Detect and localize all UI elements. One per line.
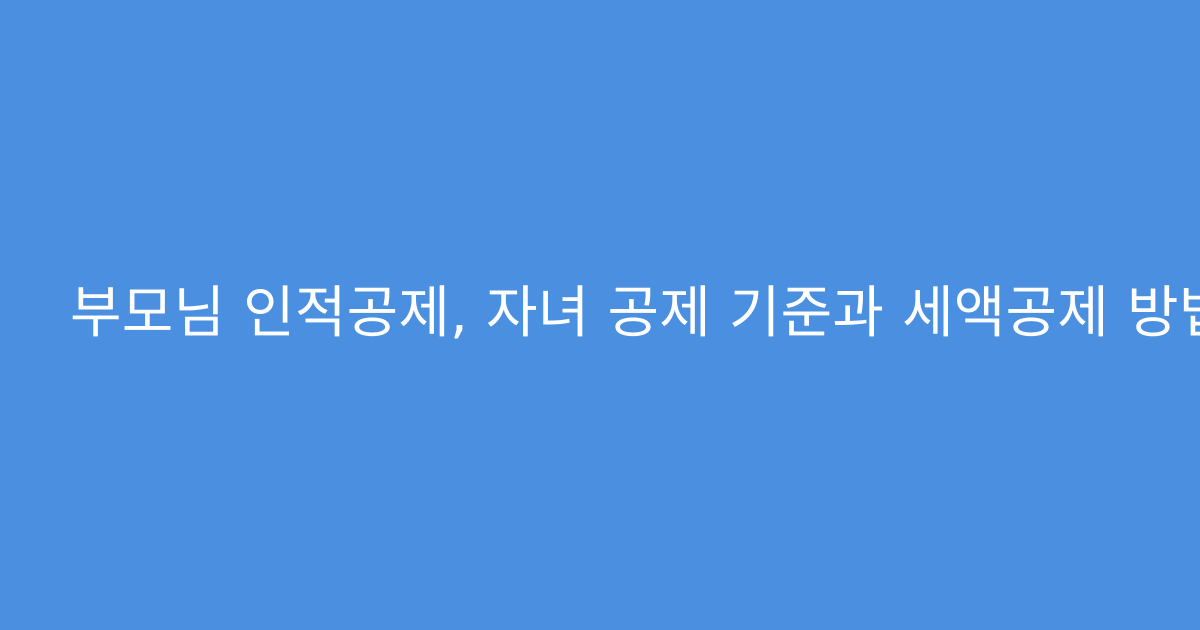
page-title: 부모님 인적공제, 자녀 공제 기준과 세액공제 방법	[70, 280, 1130, 348]
og-banner-card: 부모님 인적공제, 자녀 공제 기준과 세액공제 방법	[0, 0, 1200, 630]
